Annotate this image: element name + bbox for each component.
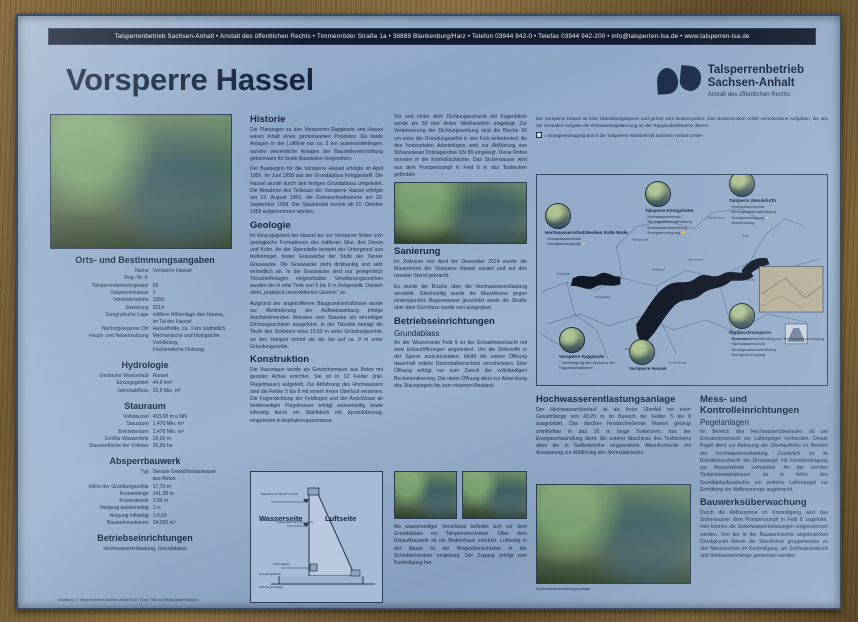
spec-row: Jahresabfluss22,5 Mio. m³ bbox=[50, 388, 240, 395]
spec-key: Bauwerksvolumen bbox=[50, 520, 153, 527]
spec-row: TypGerade Gewichtsstaumaueraus Beton bbox=[50, 469, 240, 483]
section-paragraph: Die Staumauer wurde als Gewichtsmauer au… bbox=[250, 367, 383, 425]
callout-rappbodetalsperre[interactable]: Rappbodetalsperre · Rohwasserbereitstell… bbox=[729, 303, 825, 357]
betriebseinrichtungen-note: Hochwasserentlastung, Grundablass bbox=[50, 546, 240, 553]
section-paragraph: Aufgrund der angetroffenen Baugrundverhä… bbox=[250, 301, 383, 352]
spec-value: 44,6 km² bbox=[153, 380, 240, 387]
spec-row: Haupt- und NebennutzungMechanische und b… bbox=[50, 333, 240, 354]
column-monitoring: Mess- und KontrolleinrichtungenPegelanla… bbox=[700, 394, 828, 564]
spec-value: 141,30 m bbox=[153, 491, 240, 498]
spec-key: Vollstauziel bbox=[50, 414, 153, 421]
spec-row: Neigung luftseitig1:0,63 bbox=[50, 513, 240, 520]
column-history-geology: HistorieDie Planungen zu den Vorsperren … bbox=[250, 114, 383, 428]
crest-photo bbox=[394, 182, 527, 244]
spec-value: Hassel bbox=[153, 373, 240, 380]
svg-text:Wendefurth: Wendefurth bbox=[688, 257, 704, 261]
callout-title: Talsperre Königshütte bbox=[645, 208, 727, 214]
contact-bar-text: Talsperrenbetrieb Sachsen-Anhalt • Ansta… bbox=[114, 33, 749, 40]
spec-key: Neigung wasserseitig bbox=[50, 505, 153, 512]
page-title: Vorsperre Hassel bbox=[66, 62, 314, 98]
spec-value: 1,470 Mio. m³ bbox=[153, 429, 240, 436]
section-paragraph: Im Bereich des Hochwasserüberlaufes ist … bbox=[700, 429, 828, 494]
col4-sections: HochwasserentlastungsanlageDer Hochwasse… bbox=[536, 394, 691, 458]
diagram-base-note: Dichtungsschleier bbox=[259, 585, 283, 589]
spec-key: Reg.-Nr. lt. bbox=[50, 275, 153, 282]
spec-value: 1:∞ bbox=[153, 505, 240, 512]
column-specifications: Orts- und BestimmungsangabenNameVorsperr… bbox=[50, 114, 240, 553]
section-paragraph: Vor und hinter dem Dichtungsschacht mit … bbox=[394, 114, 527, 179]
spec-value: mittlere Höhenlage des Harzes,im Tal der… bbox=[153, 312, 240, 326]
spec-row: Sanierung2014 bbox=[50, 305, 240, 312]
spec-key: Betriebsraum bbox=[50, 429, 153, 436]
spec-table: NameVorsperre HasselReg.-Nr. lt.Talsperr… bbox=[50, 268, 240, 354]
contact-bar: Talsperrenbetrieb Sachsen-Anhalt • Ansta… bbox=[48, 28, 816, 45]
spec-value: 1:0,63 bbox=[153, 513, 240, 520]
spec-row: Talsperrenbetriebsgesetz03 bbox=[50, 283, 240, 290]
spec-row: Gestauter WasserlaufHassel bbox=[50, 373, 240, 380]
spec-key: Jahresabfluss bbox=[50, 388, 153, 395]
spec-row: Inbetriebnahme1959 bbox=[50, 297, 240, 304]
callout-photo-icon bbox=[559, 327, 585, 353]
section-heading: Sanierung bbox=[394, 246, 527, 257]
diagram-foundation-note: Gründungssohle bbox=[259, 572, 281, 576]
spec-row: Höhe der Gründungssohle17,70 m bbox=[50, 484, 240, 491]
spec-table: Vollstauziel433,00 m ü.NNStauraum1,470 M… bbox=[50, 414, 240, 451]
spec-row: Nächstgelegener OrtHasselfelde, ca. 3 km… bbox=[50, 326, 240, 333]
callout-photo-icon bbox=[645, 181, 671, 207]
spec-group-title: Stauraum bbox=[50, 401, 240, 411]
spec-row: Stauraum1,470 Mio. m³ bbox=[50, 421, 240, 428]
callout-photo-icon bbox=[545, 203, 571, 229]
spec-key: Größte Wassertiefe bbox=[50, 436, 153, 443]
spec-key: Kronenbreite bbox=[50, 498, 153, 505]
section-subheading: Grundablass bbox=[394, 329, 527, 338]
spec-row: Betriebsraum1,470 Mio. m³ bbox=[50, 429, 240, 436]
section-paragraph: Im Einzugsgebiet der Hassel bis zur Vors… bbox=[250, 233, 383, 298]
spec-row: Kronenbreite3,00 m bbox=[50, 498, 240, 505]
spec-row: Talsperrenklasse1 bbox=[50, 290, 240, 297]
spec-value: Vorsperre Hassel bbox=[153, 268, 240, 275]
reservoir-photo bbox=[50, 114, 232, 249]
information-board: Talsperrenbetrieb Sachsen-Anhalt • Ansta… bbox=[16, 14, 842, 610]
column-map-intro: Die Vorsperre Hassel ist eine Überleitun… bbox=[536, 116, 828, 140]
map-legend-text: = Energieerzeugung durch die Talsperren-… bbox=[544, 133, 702, 138]
callout-title: Hochwasserschutzbecken Kalte Bode bbox=[545, 230, 653, 236]
spec-value: 1,470 Mio. m³ bbox=[153, 421, 240, 428]
section-paragraph: Durch die Abflussrinne im Kontrollgang w… bbox=[700, 510, 828, 561]
spec-row: Geografische Lagemittlere Höhenlage des … bbox=[50, 312, 240, 326]
spec-key: Nächstgelegener Ort bbox=[50, 326, 153, 333]
energy-icon bbox=[536, 132, 542, 138]
spec-key: Sanierung bbox=[50, 305, 153, 312]
logo-line2: Sachsen-Anhalt bbox=[708, 77, 795, 89]
logo-line1: Talsperrenbetrieb bbox=[708, 64, 804, 76]
spec-value: 433,00 m ü.NN bbox=[153, 414, 240, 421]
spec-key: Gestauter Wasserlauf bbox=[50, 373, 153, 380]
spec-key: Stauseefläche bei Vollstau bbox=[50, 443, 153, 450]
wooden-frame: Talsperrenbetrieb Sachsen-Anhalt • Ansta… bbox=[0, 0, 858, 622]
col2-sections: HistorieDie Planungen zu den Vorsperren … bbox=[250, 114, 383, 425]
callout-kalte-bode[interactable]: Hochwasserschutzbecken Kalte Bode · Hoch… bbox=[545, 203, 653, 247]
section-paragraph: Im Zeitraum von April bis Dezember 2014 … bbox=[394, 259, 527, 281]
spec-value: 2014 bbox=[153, 305, 240, 312]
spec-value: 1 bbox=[153, 290, 240, 297]
spec-value: Gerade Gewichtsstaumaueraus Beton bbox=[153, 469, 240, 483]
svg-text:Rübeland: Rübeland bbox=[652, 267, 665, 271]
spec-tables: Orts- und BestimmungsangabenNameVorsperr… bbox=[50, 255, 240, 527]
callout-vorsperre-hassel[interactable]: Vorsperre Hassel bbox=[629, 339, 717, 372]
spec-group-title: Orts- und Bestimmungsangaben bbox=[50, 255, 240, 265]
section-heading: Konstruktion bbox=[250, 354, 383, 365]
spec-table: TypGerade Gewichtsstaumaueraus BetonHöhe… bbox=[50, 469, 240, 527]
dam-cross-section-diagram: Wasserseite Luftseite Mauerkrone 434,20 … bbox=[250, 471, 383, 603]
callout-title: Talsperre Wendefurth bbox=[729, 198, 823, 204]
spec-value: 22,5 Mio. m³ bbox=[153, 388, 240, 395]
spec-key: Talsperrenklasse bbox=[50, 290, 153, 297]
diagram-label-luftseite: Luftseite bbox=[325, 514, 356, 523]
svg-text:Hasselfelde: Hasselfelde bbox=[595, 295, 611, 299]
col3-top-text: Vor und hinter dem Dichtungsschacht mit … bbox=[394, 114, 527, 179]
spec-row: Reg.-Nr. lt. bbox=[50, 275, 240, 282]
section-paragraph: Der Baubeginn für die Vorsperre Hassel e… bbox=[250, 166, 383, 217]
spec-row: Größte Wassertiefe19,00 m bbox=[50, 436, 240, 443]
spillway-photo-caption: Hochwasserentlastungsanlage bbox=[536, 586, 691, 591]
spec-value: 17,70 m bbox=[153, 484, 240, 491]
column-spillway: HochwasserentlastungsanlageDer Hochwasse… bbox=[536, 394, 691, 461]
callout-items: · Hochwasserschutz · Energieerzeugung ⚡ bbox=[545, 236, 653, 246]
section-paragraph: Die Planungen zu den Vorsperren Rappbode… bbox=[250, 127, 383, 163]
spec-value: Mechanische und biologischeVorklärung,Fi… bbox=[153, 333, 240, 354]
spec-value bbox=[153, 275, 240, 282]
callout-items: · Hochwasserschutz · Niedrigwasseraufhöh… bbox=[729, 204, 823, 225]
spec-value: 1959 bbox=[153, 297, 240, 304]
credit-line: Gestaltung: © Talsperrenbetrieb Sachsen-… bbox=[58, 598, 198, 602]
spec-value: 3,00 m bbox=[153, 498, 240, 505]
spec-group-title: Absperrbauwerk bbox=[50, 456, 240, 466]
spec-row: NameVorsperre Hassel bbox=[50, 268, 240, 275]
col5-sections: Mess- und KontrolleinrichtungenPegelanla… bbox=[700, 394, 828, 561]
map-legend: = Energieerzeugung durch die Talsperren-… bbox=[536, 132, 828, 139]
spillway-photo bbox=[536, 484, 691, 584]
spec-value: 14.000 m³ bbox=[153, 520, 240, 527]
spec-key: Einzugsgebiet bbox=[50, 380, 153, 387]
spec-row: Bauwerksvolumen14.000 m³ bbox=[50, 520, 240, 527]
section-heading: Historie bbox=[250, 114, 383, 125]
spec-value: 26,00 ha bbox=[153, 443, 240, 450]
spec-key: Geografische Lage bbox=[50, 312, 153, 326]
section-paragraph: Es wurde die Brücke über die Hochwassere… bbox=[394, 284, 527, 313]
section-heading: Bauwerksüberwachung bbox=[700, 497, 828, 508]
spec-row: Neigung wasserseitig1:∞ bbox=[50, 505, 240, 512]
callout-items: · Hochwasserschutz · Niedrigwasseraufhöh… bbox=[645, 214, 727, 235]
callout-photo-icon bbox=[629, 339, 655, 365]
callout-title: Rappbodetalsperre bbox=[729, 330, 825, 336]
pier-photo-right bbox=[462, 471, 527, 519]
spec-key: Name bbox=[50, 268, 153, 275]
column-construction-refurb: Vor und hinter dem Dichtungsschacht mit … bbox=[394, 114, 527, 393]
spec-group-title: Hydrologie bbox=[50, 360, 240, 370]
spec-value: 19,00 m bbox=[153, 436, 240, 443]
diagram-gallery-note: Kontrollgang bbox=[273, 562, 290, 566]
col3-sections: SanierungIm Zeitraum von April bis Dezem… bbox=[394, 246, 527, 390]
callout-photo-icon bbox=[729, 174, 755, 197]
spec-value: 03 bbox=[153, 283, 240, 290]
spec-key: Kronenlänge bbox=[50, 491, 153, 498]
bodesystem-intro: Die Vorsperre Hassel ist eine Überleitun… bbox=[536, 116, 828, 129]
spec-key: Typ bbox=[50, 469, 153, 483]
spec-key: Talsperrenbetriebsgesetz bbox=[50, 283, 153, 290]
spec-key: Höhe der Gründungssohle bbox=[50, 484, 153, 491]
section-heading: Geologie bbox=[250, 220, 383, 231]
spec-key: Neigung luftseitig bbox=[50, 513, 153, 520]
diagram-water-note: Vollstauziel 433,00 m ü.NN bbox=[277, 520, 313, 524]
logo-subtitle: Anstalt des öffentlichen Rechts bbox=[708, 92, 804, 98]
section-subheading: Pegelanlagen bbox=[700, 418, 828, 427]
spec-key: Haupt- und Nebennutzung bbox=[50, 333, 153, 354]
svg-text:Treseburg: Treseburg bbox=[742, 277, 756, 281]
spec-value: Hasselfelde, ca. 3 km südöstlich bbox=[153, 326, 240, 333]
spec-row: Einzugsgebiet44,6 km² bbox=[50, 380, 240, 387]
bodesystem-map: Elbingerode Blankenburg Thale Braunlage … bbox=[536, 174, 828, 386]
logo-mark-icon bbox=[657, 66, 701, 96]
organization-logo: Talsperrenbetrieb Sachsen-Anhalt Anstalt… bbox=[657, 64, 804, 98]
section-heading: Betriebseinrichtungen bbox=[394, 316, 527, 327]
betriebseinrichtungen-title: Betriebseinrichtungen bbox=[50, 533, 240, 543]
callout-items: · Rohwasserbereitstellung zur Trinkwasse… bbox=[729, 336, 825, 357]
section-paragraph: An der Wasserseite Feld 9 ist der Entnah… bbox=[394, 340, 527, 391]
spec-row: Vollstauziel433,00 m ü.NN bbox=[50, 414, 240, 421]
callout-wendefurth[interactable]: Talsperre Wendefurth · Hochwasserschutz … bbox=[729, 174, 823, 225]
spec-table: Gestauter WasserlaufHasselEinzugsgebiet4… bbox=[50, 373, 240, 395]
svg-text:Thale: Thale bbox=[742, 234, 750, 238]
section-heading: Mess- und Kontrolleinrichtungen bbox=[700, 394, 828, 416]
section-paragraph: Der Hochwasserüberlauf ist als freier Üb… bbox=[536, 407, 691, 458]
callout-title: Vorsperre Hassel bbox=[629, 366, 717, 372]
pier-photo-left bbox=[394, 471, 457, 519]
spec-row: Kronenlänge141,30 m bbox=[50, 491, 240, 498]
spec-row: Stauseefläche bei Vollstau26,00 ha bbox=[50, 443, 240, 450]
section-heading: Hochwasserentlastungsanlage bbox=[536, 394, 691, 405]
callout-photo-icon bbox=[729, 303, 755, 329]
spec-key: Inbetriebnahme bbox=[50, 297, 153, 304]
col3-bottom-paragraph: Als wasserseitiger Verschluss befindet s… bbox=[394, 524, 527, 567]
callout-koenigshuette[interactable]: Talsperre Königshütte · Hochwasserschutz… bbox=[645, 181, 727, 235]
spec-key: Stauraum bbox=[50, 421, 153, 428]
svg-text:Braunlage: Braunlage bbox=[557, 271, 571, 275]
diagram-crest-note: Mauerkrone 434,20 m ü.NN bbox=[261, 492, 298, 496]
